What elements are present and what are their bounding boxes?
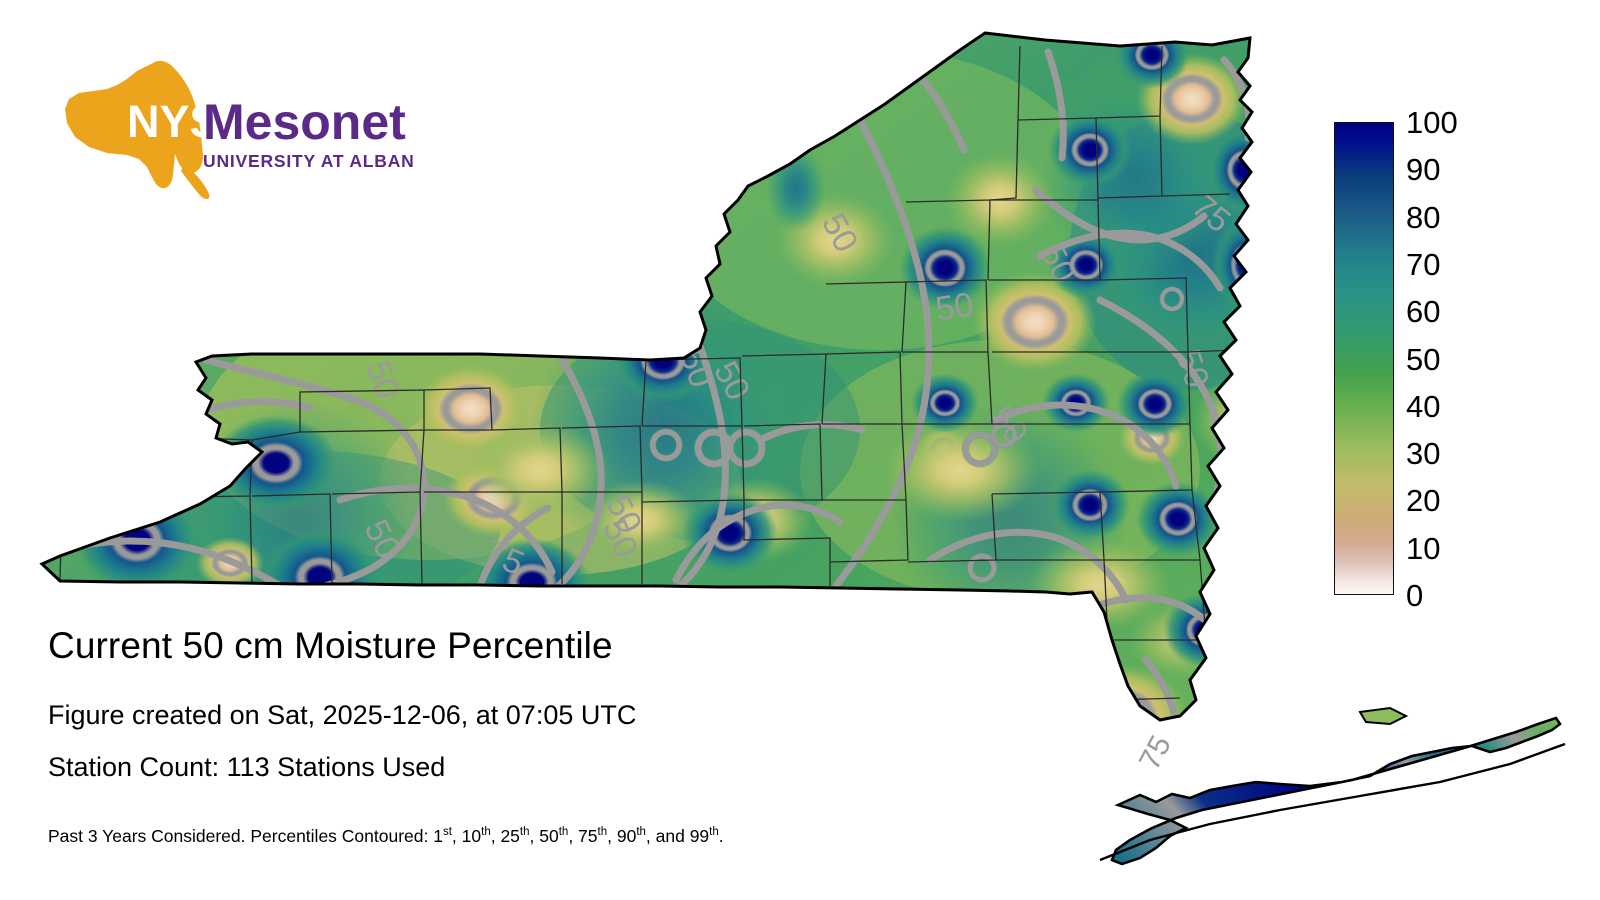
percentile-level-90: 90th — [617, 826, 646, 846]
contour-label-50-13: 50 — [947, 621, 1001, 675]
colorbar-tick-10: 10 — [1406, 533, 1521, 564]
colorbar-gradient — [1334, 122, 1394, 595]
station-count: Station Count: 113 Stations Used — [48, 752, 445, 783]
colorbar-tick-50: 50 — [1406, 344, 1521, 375]
colorbar-tick-90: 90 — [1406, 154, 1521, 185]
colorbar-tick-30: 30 — [1406, 438, 1521, 469]
footnote: Past 3 Years Considered. Percentiles Con… — [48, 826, 724, 847]
percentile-level-25: 25th — [500, 826, 529, 846]
logo-mesonet-text: Mesonet — [203, 94, 406, 150]
logo-subtitle: UNIVERSITY AT ALBANY — [203, 151, 415, 171]
percentile-level-50: 50th — [539, 826, 568, 846]
percentile-level-99: 99th — [690, 826, 719, 846]
contour-label-75: 75 — [1133, 730, 1178, 775]
long-island-outline — [1112, 718, 1560, 864]
colorbar-tick-70: 70 — [1406, 249, 1521, 280]
small-island — [1360, 708, 1406, 724]
colorbar-tick-80: 80 — [1406, 202, 1521, 233]
contour-label-50-1: 50 — [933, 286, 976, 329]
percentile-level-10: 10th — [462, 826, 491, 846]
colorbar-tick-20: 20 — [1406, 485, 1521, 516]
colorbar: 1009080706050403020100 — [1334, 122, 1564, 596]
percentile-level-1: 1st — [433, 826, 452, 846]
figure-canvas: 505050755050505050505050755075 — [0, 0, 1600, 900]
colorbar-tick-0: 0 — [1406, 580, 1521, 611]
nys-mesonet-logo: NYS Mesonet UNIVERSITY AT ALBANY — [55, 55, 415, 200]
colorbar-tick-40: 40 — [1406, 391, 1521, 422]
page-title: Current 50 cm Moisture Percentile — [48, 625, 613, 667]
long-island-panel: 75 — [1060, 690, 1600, 880]
percentile-level-75: 75th — [578, 826, 607, 846]
colorbar-tick-60: 60 — [1406, 296, 1521, 327]
created-timestamp: Figure created on Sat, 2025-12-06, at 07… — [48, 700, 636, 731]
colorbar-tick-100: 100 — [1406, 107, 1521, 138]
